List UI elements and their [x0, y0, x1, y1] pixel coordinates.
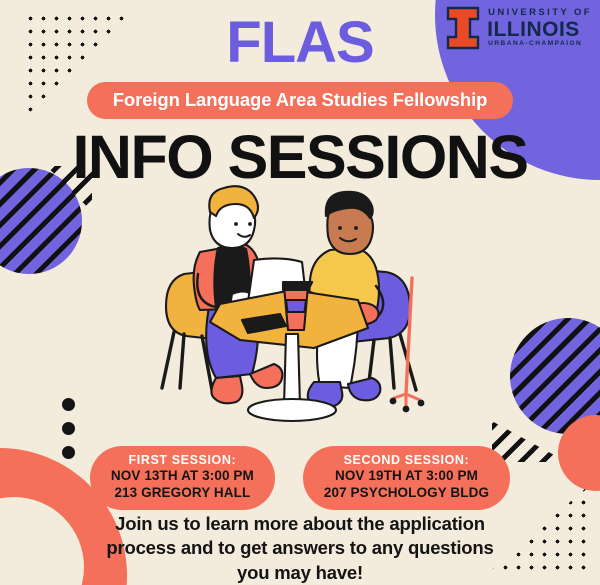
flas-info-session-poster: UNIVERSITY OF ILLINOIS URBANA-CHAMPAIGN …	[0, 0, 600, 585]
university-line-3: URBANA-CHAMPAIGN	[488, 41, 592, 48]
session-heading: SECOND SESSION:	[324, 453, 489, 468]
closing-paragraph: Join us to learn more about the applicat…	[0, 512, 600, 585]
university-line-1: UNIVERSITY OF	[488, 8, 592, 18]
university-line-2: ILLINOIS	[487, 19, 592, 40]
session-pill-first: FIRST SESSION: NOV 13TH AT 3:00 PM 213 G…	[90, 446, 275, 510]
university-wordmark: UNIVERSITY OF ILLINOIS URBANA-CHAMPAIGN	[488, 8, 592, 47]
closing-line-3: you may have!	[0, 561, 600, 585]
session-pill-second: SECOND SESSION: NOV 19TH AT 3:00 PM 207 …	[303, 446, 510, 510]
university-logo: UNIVERSITY OF ILLINOIS URBANA-CHAMPAIGN	[446, 6, 592, 50]
program-subtitle-pill: Foreign Language Area Studies Fellowship	[87, 82, 514, 119]
session-location: 207 PSYCHOLOGY BLDG	[324, 485, 489, 501]
page-title: INFO SESSIONS	[0, 126, 600, 188]
students-at-table-illustration	[144, 182, 456, 432]
striped-circle-right	[510, 318, 600, 434]
dot	[62, 422, 75, 435]
block-i-icon	[446, 6, 480, 50]
closing-line-1: Join us to learn more about the applicat…	[0, 512, 600, 536]
session-datetime: NOV 19TH AT 3:00 PM	[324, 468, 489, 484]
closing-line-2: process and to get answers to any questi…	[0, 536, 600, 560]
dot	[62, 398, 75, 411]
session-datetime: NOV 13TH AT 3:00 PM	[111, 468, 254, 484]
session-list: FIRST SESSION: NOV 13TH AT 3:00 PM 213 G…	[0, 446, 600, 510]
session-heading: FIRST SESSION:	[111, 453, 254, 468]
session-location: 213 GREGORY HALL	[111, 485, 254, 501]
